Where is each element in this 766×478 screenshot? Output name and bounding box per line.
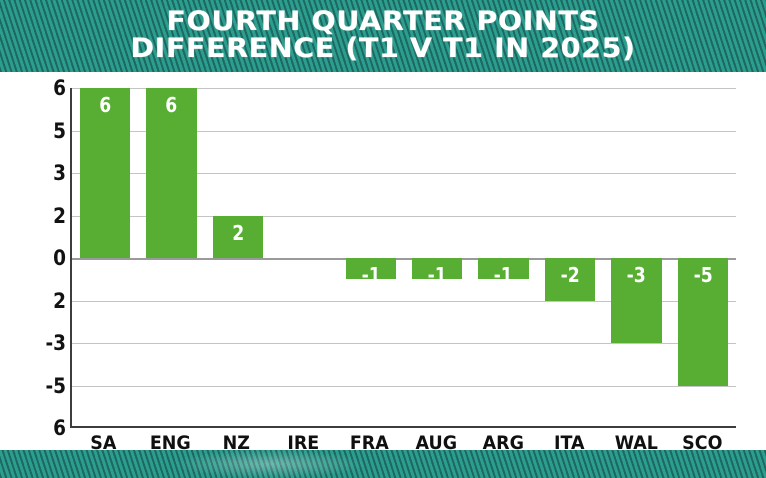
bar-value-label: 6 (77, 95, 134, 115)
y-axis: 653202-3-56 (22, 88, 66, 428)
bar-value-label: -1 (409, 265, 466, 285)
bar-value-label: -2 (541, 265, 598, 285)
y-axis-tick-label: -3 (27, 333, 66, 354)
bar-slot: 2 (205, 88, 271, 426)
footer-banner (0, 450, 766, 478)
bar-value-label: -1 (342, 265, 399, 285)
header-banner: FOURTH QUARTER POINTS DIFFERENCE (T1 V T… (0, 0, 766, 72)
chart-plot-area: 653202-3-56 662-1-1-1-2-3-5 SAENGNZIREFR… (0, 72, 766, 450)
y-axis-tick-label: 2 (27, 291, 66, 312)
bar-slot (271, 88, 337, 426)
chart-title: FOURTH QUARTER POINTS DIFFERENCE (T1 V T… (0, 8, 766, 62)
bar-slot: -1 (404, 88, 470, 426)
plot-canvas: 662-1-1-1-2-3-5 (70, 88, 736, 428)
y-axis-tick-label: 6 (27, 418, 66, 439)
bar-slot: -5 (670, 88, 736, 426)
footer-watermark (175, 450, 365, 478)
y-axis-tick-label: 2 (27, 206, 66, 227)
y-axis-tick-label: 6 (27, 78, 66, 99)
y-axis-tick-label: 3 (27, 163, 66, 184)
y-axis-tick-label: 0 (27, 248, 66, 269)
bar-series: 662-1-1-1-2-3-5 (72, 88, 736, 426)
chart-title-line-1: FOURTH QUARTER POINTS (0, 8, 766, 35)
chart-page: FOURTH QUARTER POINTS DIFFERENCE (T1 V T… (0, 0, 766, 478)
bar-value-label: -1 (475, 265, 532, 285)
chart-title-line-2: DIFFERENCE (T1 V T1 IN 2025) (0, 35, 766, 62)
bar-slot: 6 (138, 88, 204, 426)
bar-value-label: 2 (209, 223, 266, 243)
bar-slot: 6 (72, 88, 138, 426)
bar-value-label: -5 (674, 265, 731, 285)
bar-value-label: 6 (143, 95, 200, 115)
bar-slot: -2 (537, 88, 603, 426)
bar-value-label: -3 (608, 265, 665, 285)
bar-slot: -1 (470, 88, 536, 426)
bar-slot: -3 (603, 88, 669, 426)
y-axis-tick-label: -5 (27, 376, 66, 397)
y-axis-tick-label: 5 (27, 121, 66, 142)
bar-slot: -1 (338, 88, 404, 426)
